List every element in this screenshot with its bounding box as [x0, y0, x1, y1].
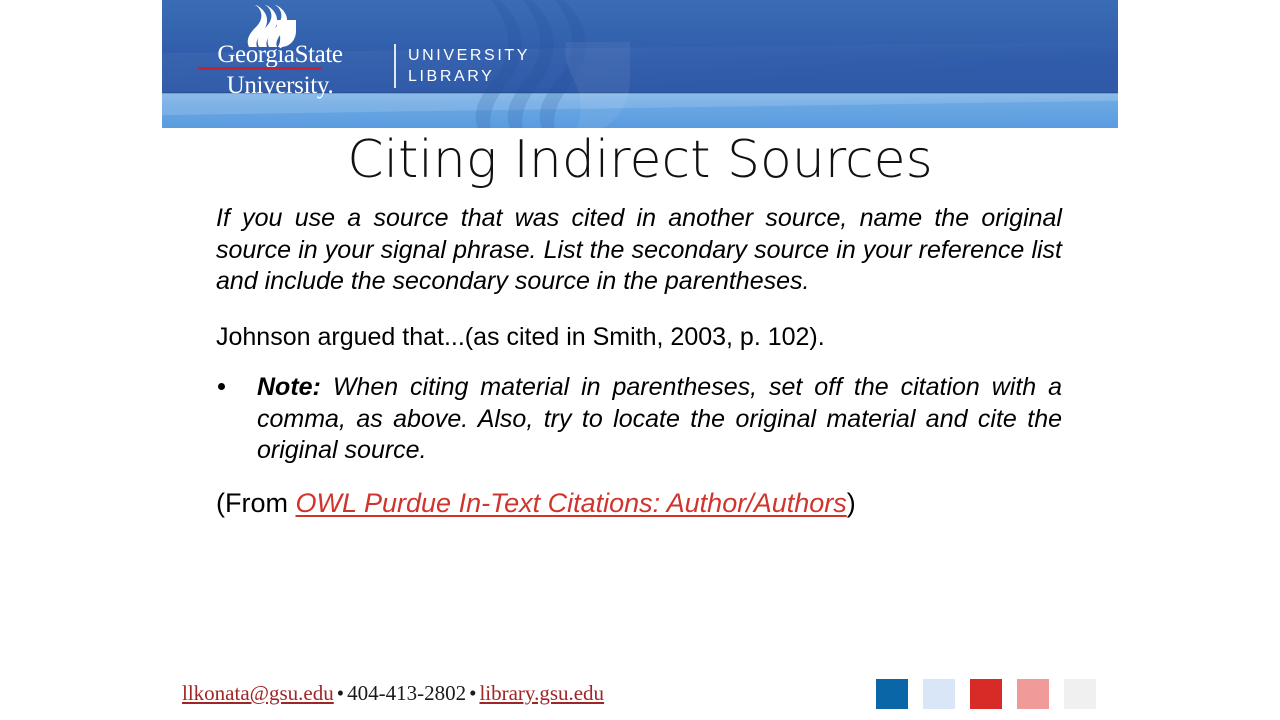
note-bullet-text: Note: When citing material in parenthese… — [257, 372, 1062, 467]
phone-number: 404-413-2802 — [347, 681, 466, 705]
source-attribution: (From OWL Purdue In-Text Citations: Auth… — [216, 486, 1062, 520]
gsu-wordmark-line2: University. — [176, 73, 384, 98]
page-title: Citing Indirect Sources — [162, 130, 1118, 190]
gsu-library-logo: GeorgiaState University. UNIVERSITY LIBR… — [176, 4, 436, 92]
bullet-point-icon — [218, 383, 225, 390]
spacer — [216, 467, 1062, 486]
footer-separator-1: • — [334, 681, 347, 705]
color-swatch-strip — [876, 679, 1096, 709]
footer-contact: llkonata@gsu.edu•404-413-2802•library.gs… — [182, 680, 604, 706]
header-banner: GeorgiaState University. UNIVERSITY LIBR… — [162, 0, 1118, 128]
spacer — [216, 353, 1062, 372]
source-suffix: ) — [847, 488, 856, 518]
website-link[interactable]: library.gsu.edu — [479, 681, 604, 705]
spacer — [216, 298, 1062, 322]
note-label: Note: — [257, 373, 321, 401]
footer-separator-2: • — [466, 681, 479, 705]
source-prefix: (From — [216, 488, 295, 518]
swatch-blue — [876, 679, 908, 709]
example-citation: Johnson argued that...(as cited in Smith… — [216, 322, 1062, 354]
note-body: When citing material in parentheses, set… — [257, 373, 1062, 464]
logo-vertical-divider — [394, 44, 396, 88]
swatch-salmon — [1017, 679, 1049, 709]
swatch-red — [970, 679, 1002, 709]
swatch-light-blue — [923, 679, 955, 709]
library-sublabel-line1: UNIVERSITY — [408, 45, 530, 66]
gsu-wordmark-red-rule — [198, 67, 322, 70]
owl-purdue-link[interactable]: OWL Purdue In-Text Citations: Author/Aut… — [295, 488, 846, 518]
slide-body: If you use a source that was cited in an… — [216, 203, 1062, 520]
gsu-wordmark: GeorgiaState University. — [176, 42, 384, 98]
library-sublabel-line2: LIBRARY — [408, 66, 530, 87]
slide-canvas: GeorgiaState University. UNIVERSITY LIBR… — [0, 0, 1280, 720]
intro-paragraph: If you use a source that was cited in an… — [216, 203, 1062, 298]
swatch-gray — [1064, 679, 1096, 709]
email-link[interactable]: llkonata@gsu.edu — [182, 681, 334, 705]
gsu-wordmark-line1: GeorgiaState — [217, 42, 342, 69]
note-bullet-item: Note: When citing material in parenthese… — [216, 372, 1062, 467]
library-sublabel: UNIVERSITY LIBRARY — [408, 45, 530, 87]
